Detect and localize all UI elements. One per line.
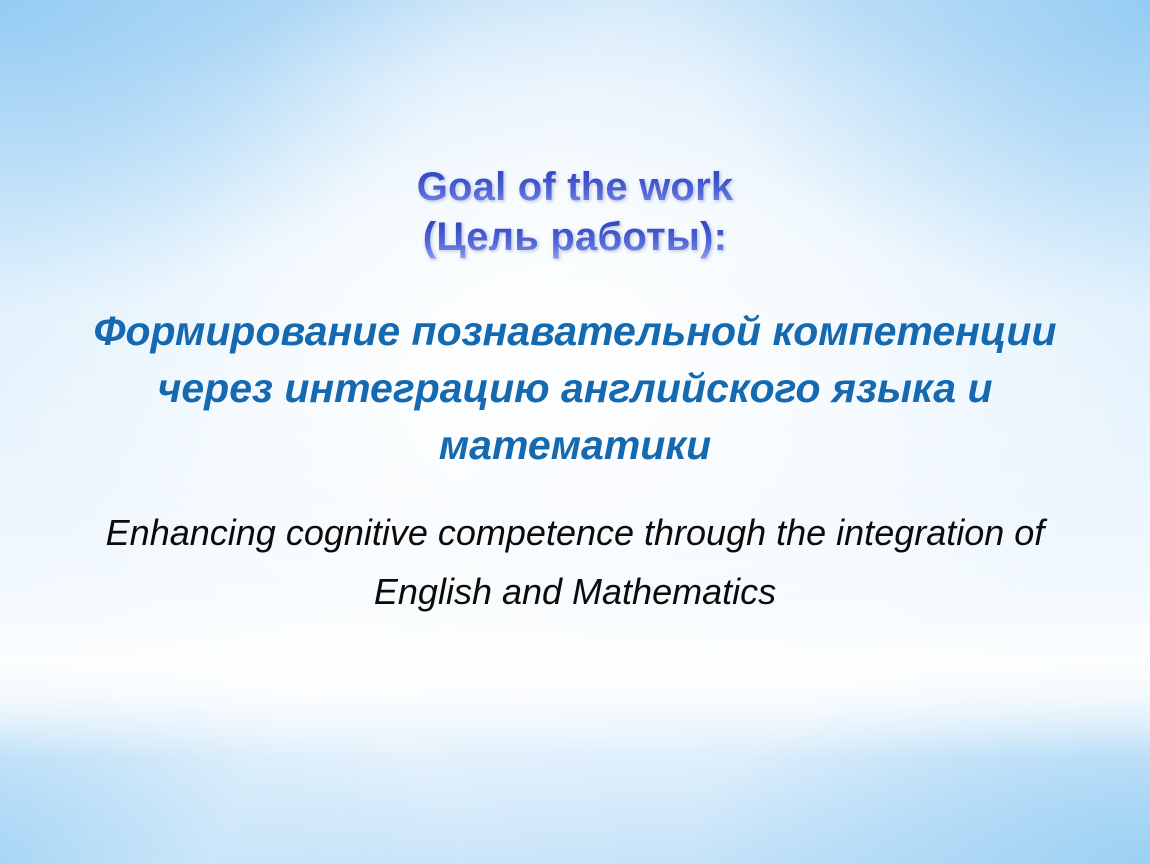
english-body-line-2: English and Mathematics [20, 562, 1130, 621]
slide-content: Goal of the work (Цель работы): Формиров… [0, 0, 1150, 864]
russian-body-line-2: через интеграцию английского языка и [26, 360, 1124, 417]
english-body-line-1: Enhancing cognitive competence through t… [20, 503, 1130, 562]
russian-body-line-1: Формирование познавательной компетенции [26, 303, 1124, 360]
slide-canvas: Goal of the work (Цель работы): Формиров… [0, 0, 1150, 864]
slide-title: Goal of the work (Цель работы): [0, 162, 1150, 262]
russian-body-text: Формирование познавательной компетенции … [26, 303, 1124, 474]
russian-body-line-3: математики [26, 417, 1124, 474]
slide-title-line-english: Goal of the work [0, 162, 1150, 212]
slide-title-line-russian: (Цель работы): [0, 212, 1150, 262]
english-body-text: Enhancing cognitive competence through t… [20, 503, 1130, 621]
